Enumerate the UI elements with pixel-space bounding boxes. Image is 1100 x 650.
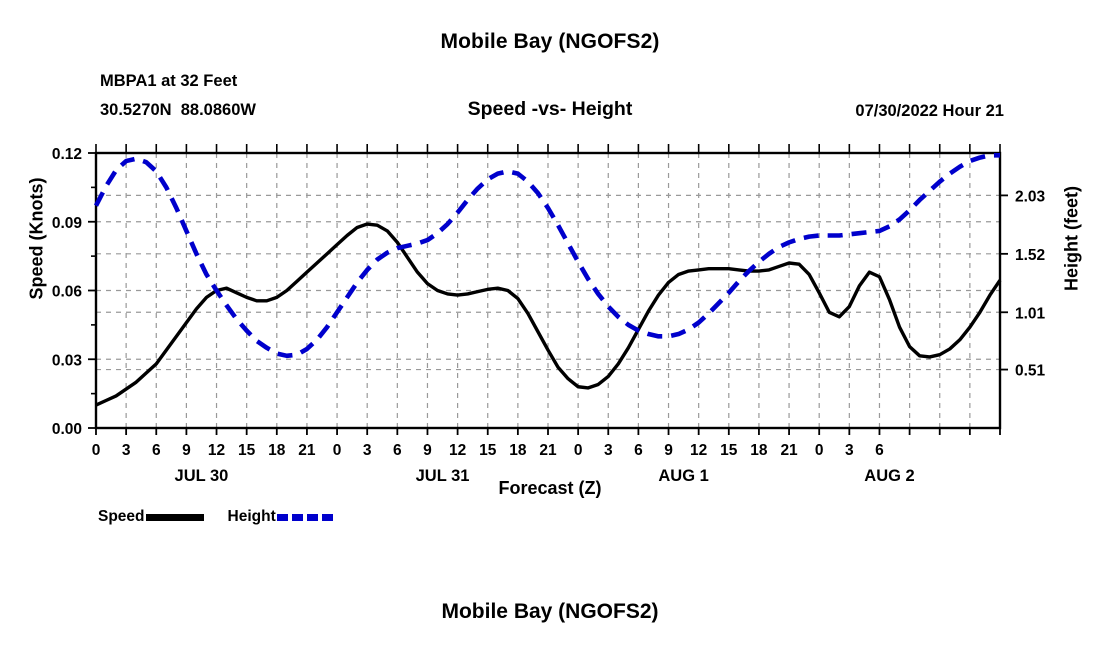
x-tick-label: 12 — [690, 442, 707, 459]
x-tick-label: 21 — [539, 442, 557, 459]
legend-item-height: Height — [228, 508, 359, 526]
x-tick-label: 9 — [182, 442, 191, 459]
y-right-tick-label: 0.51 — [1015, 363, 1046, 380]
chart-page: Mobile Bay (NGOFS2) MBPA1 at 32 Feet 30.… — [0, 0, 1100, 650]
y-right-tick-label: 1.01 — [1015, 305, 1046, 322]
x-tick-label: 3 — [122, 442, 131, 459]
x-tick-label: 21 — [298, 442, 316, 459]
x-tick-label: 3 — [845, 442, 854, 459]
x-tick-label: 3 — [363, 442, 372, 459]
x-tick-label: 0 — [815, 442, 824, 459]
legend-label-speed: Speed — [98, 508, 145, 526]
x-tick-label: 3 — [604, 442, 613, 459]
x-tick-label: 15 — [238, 442, 256, 459]
y-axis-right-tick-labels: 0.511.011.522.03 — [1015, 188, 1046, 379]
x-tick-label: 18 — [509, 442, 527, 459]
x-tick-label: 15 — [720, 442, 738, 459]
x-tick-label: 9 — [664, 442, 673, 459]
x-tick-label: 18 — [268, 442, 286, 459]
x-tick-label: 6 — [875, 442, 884, 459]
legend-label-height: Height — [228, 508, 276, 526]
y-left-tick-label: 0.09 — [52, 215, 83, 232]
y-right-tick-label: 2.03 — [1015, 188, 1046, 205]
y-left-tick-label: 0.06 — [52, 284, 83, 301]
x-tick-label: 6 — [393, 442, 402, 459]
x-tick-label: 12 — [449, 442, 466, 459]
legend: Speed Height — [98, 508, 359, 526]
x-tick-label: 0 — [92, 442, 101, 459]
legend-swatch-speed-icon — [146, 514, 204, 521]
x-tick-label: 6 — [152, 442, 161, 459]
x-axis-tick-labels: 036912151821036912151821036912151821036 — [92, 442, 884, 459]
y-left-tick-label: 0.12 — [52, 146, 82, 163]
y-left-tick-label: 0.03 — [52, 352, 83, 369]
y-axis-right-title: Height (feet) — [1062, 139, 1083, 339]
y-axis-left-tick-labels: 0.000.030.060.090.12 — [52, 146, 83, 438]
x-tick-label: 15 — [479, 442, 497, 459]
page-title-bottom: Mobile Bay (NGOFS2) — [0, 600, 1100, 624]
x-tick-label: 9 — [423, 442, 432, 459]
x-axis-title: Forecast (Z) — [0, 478, 1100, 499]
legend-swatch-height-icon — [277, 514, 335, 521]
plot-area: 036912151821036912151821036912151821036 … — [0, 0, 1100, 650]
x-tick-label: 21 — [780, 442, 798, 459]
x-tick-label: 18 — [750, 442, 768, 459]
legend-item-speed: Speed — [98, 508, 228, 526]
chart-svg: 036912151821036912151821036912151821036 … — [0, 0, 1100, 650]
y-right-tick-label: 1.52 — [1015, 247, 1045, 264]
x-tick-label: 6 — [634, 442, 643, 459]
x-tick-label: 12 — [208, 442, 225, 459]
y-left-tick-label: 0.00 — [52, 421, 82, 438]
y-axis-left-title: Speed (Knots) — [27, 139, 48, 339]
x-tick-label: 0 — [574, 442, 583, 459]
x-tick-label: 0 — [333, 442, 342, 459]
